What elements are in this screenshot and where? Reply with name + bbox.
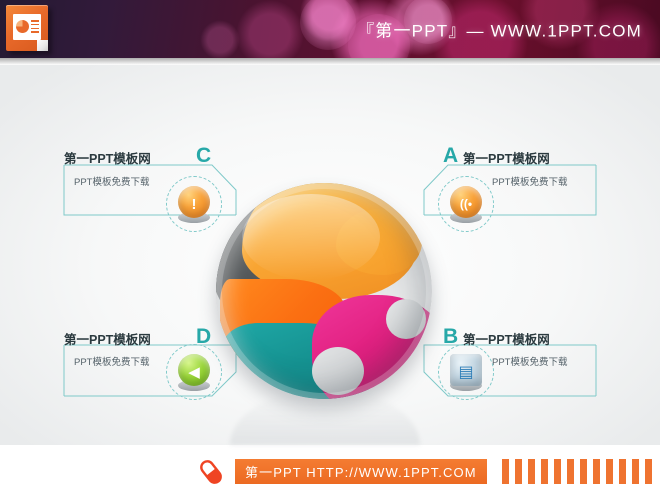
logo-body: [6, 5, 48, 51]
globe-body: [216, 183, 432, 399]
callout-d-subtitle: PPT模板免费下载: [74, 354, 149, 368]
folder-window-icon[interactable]: ▤: [438, 344, 494, 400]
callout-c-subtitle: PPT模板免费下载: [74, 174, 149, 188]
footer-url-text: 第一PPT HTTP://WWW.1PPT.COM: [245, 462, 477, 481]
logo-document: [13, 14, 41, 40]
bokeh-circle: [200, 20, 240, 58]
powerpoint-document-icon[interactable]: [6, 5, 50, 53]
globe-piece-orange-tab: [336, 209, 422, 275]
icon-glyph: ((•: [447, 185, 485, 223]
globe-piece-notch: [386, 299, 426, 339]
pie-chart-icon: [16, 20, 29, 33]
callout-b-letter: B: [443, 326, 458, 347]
callout-d-title: 第一PPT模板网: [64, 329, 151, 348]
callout-b-subtitle: PPT模板免费下载: [492, 354, 567, 368]
puzzle-globe[interactable]: [216, 183, 432, 413]
bokeh-circle: [300, 0, 356, 50]
icon-glyph: !: [175, 185, 213, 223]
header-title: 『第一PPT』— WWW.1PPT.COM: [357, 17, 642, 42]
slide-canvas: 『第一PPT』— WWW.1PPT.COM: [0, 0, 660, 495]
header-shadow: [0, 58, 660, 65]
icon-glyph: ▤: [447, 353, 485, 391]
callout-a-letter: A: [443, 145, 458, 166]
callout-c-title: 第一PPT模板网: [64, 148, 151, 167]
header-bar: 『第一PPT』— WWW.1PPT.COM: [0, 0, 660, 58]
magnifier-search-icon[interactable]: ◀: [166, 344, 222, 400]
capsule-pill-icon: [196, 457, 226, 487]
logo-page-fold: [37, 40, 48, 51]
clock-alert-icon[interactable]: !: [166, 176, 222, 232]
callout-a-title: 第一PPT模板网: [463, 148, 550, 167]
icon-glyph: ◀: [175, 353, 213, 391]
logo-text-lines: [31, 20, 39, 35]
globe-piece-notch: [312, 347, 364, 395]
callout-c-letter: C: [196, 145, 211, 166]
footer-stripe-bars: [502, 459, 652, 484]
rss-feed-icon[interactable]: ((•: [438, 176, 494, 232]
footer-url-banner: 第一PPT HTTP://WWW.1PPT.COM: [235, 459, 487, 484]
callout-a-subtitle: PPT模板免费下载: [492, 174, 567, 188]
